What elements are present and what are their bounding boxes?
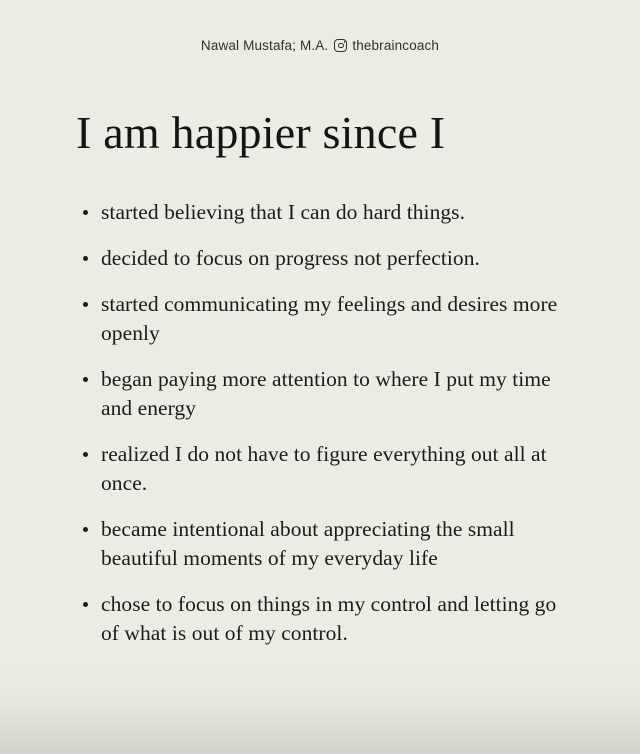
bullet-dot <box>83 256 88 261</box>
list-item-text: started believing that I can do hard thi… <box>101 198 566 227</box>
bullet-dot <box>83 452 88 457</box>
quote-card: Nawal Mustafa; M.A.thebraincoach I am ha… <box>0 0 640 754</box>
credit-line: Nawal Mustafa; M.A.thebraincoach <box>0 37 640 53</box>
list-item-text: started communicating my feelings and de… <box>101 290 566 348</box>
list-item: realized I do not have to figure everyth… <box>80 440 566 498</box>
list-item: started communicating my feelings and de… <box>80 290 566 348</box>
page-title: I am happier since I <box>76 108 445 158</box>
list-item: began paying more attention to where I p… <box>80 365 566 423</box>
bullet-dot <box>83 302 88 307</box>
list-item-text: realized I do not have to figure everyth… <box>101 440 566 498</box>
bullet-dot <box>83 602 88 607</box>
bullet-dot <box>83 210 88 215</box>
list-item: became intentional about appreciating th… <box>80 515 566 573</box>
affirmation-list: started believing that I can do hard thi… <box>80 198 566 648</box>
bullet-dot <box>83 527 88 532</box>
list-item: started believing that I can do hard thi… <box>80 198 566 227</box>
list-item-text: became intentional about appreciating th… <box>101 515 566 573</box>
list-item-text: chose to focus on things in my control a… <box>101 590 566 648</box>
instagram-handle: thebraincoach <box>352 38 439 53</box>
author-name: Nawal Mustafa; M.A. <box>201 38 328 53</box>
list-item-text: decided to focus on progress not perfect… <box>101 244 566 273</box>
list-item-text: began paying more attention to where I p… <box>101 365 566 423</box>
list-item: decided to focus on progress not perfect… <box>80 244 566 273</box>
instagram-icon <box>334 39 347 52</box>
list-item: chose to focus on things in my control a… <box>80 590 566 648</box>
bullet-dot <box>83 377 88 382</box>
